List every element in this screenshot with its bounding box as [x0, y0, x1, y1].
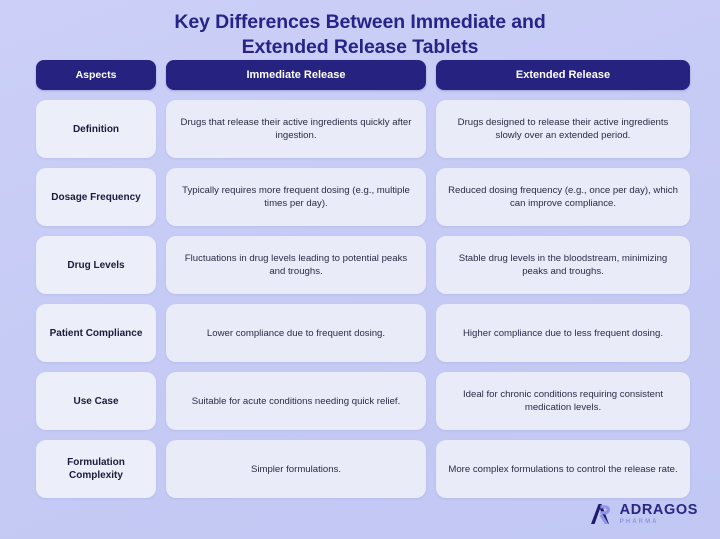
table-row: Patient Compliance Lower compliance due …: [36, 304, 690, 362]
page-title-line-1: Key Differences Between Immediate and: [70, 10, 650, 35]
brand-subtitle: PHARMA: [620, 519, 698, 525]
column-header-aspects: Aspects: [36, 60, 156, 90]
row-immediate-release-value: Typically requires more frequent dosing …: [166, 168, 426, 226]
page-title: Key Differences Between Immediate and Ex…: [0, 0, 720, 60]
row-extended-release-value: Stable drug levels in the bloodstream, m…: [436, 236, 690, 294]
table-row: Dosage Frequency Typically requires more…: [36, 168, 690, 226]
table-row: Drug Levels Fluctuations in drug levels …: [36, 236, 690, 294]
row-aspect-label: Formulation Complexity: [36, 440, 156, 498]
adragos-monogram-icon: [588, 501, 614, 527]
row-extended-release-value: Ideal for chronic conditions requiring c…: [436, 372, 690, 430]
row-aspect-label: Definition: [36, 100, 156, 158]
row-extended-release-value: Drugs designed to release their active i…: [436, 100, 690, 158]
row-immediate-release-value: Drugs that release their active ingredie…: [166, 100, 426, 158]
table-row: Definition Drugs that release their acti…: [36, 100, 690, 158]
table-row: Use Case Suitable for acute conditions n…: [36, 372, 690, 430]
brand-name: ADRAGOS: [620, 503, 698, 518]
row-immediate-release-value: Simpler formulations.: [166, 440, 426, 498]
infographic-canvas: Key Differences Between Immediate and Ex…: [0, 0, 720, 539]
brand-logo: ADRAGOS PHARMA: [588, 501, 698, 527]
row-extended-release-value: More complex formulations to control the…: [436, 440, 690, 498]
column-header-immediate-release: Immediate Release: [166, 60, 426, 90]
row-immediate-release-value: Suitable for acute conditions needing qu…: [166, 372, 426, 430]
row-extended-release-value: Reduced dosing frequency (e.g., once per…: [436, 168, 690, 226]
comparison-table: Aspects Immediate Release Extended Relea…: [36, 60, 690, 498]
row-aspect-label: Use Case: [36, 372, 156, 430]
table-header-row: Aspects Immediate Release Extended Relea…: [36, 60, 690, 90]
row-extended-release-value: Higher compliance due to less frequent d…: [436, 304, 690, 362]
row-immediate-release-value: Lower compliance due to frequent dosing.: [166, 304, 426, 362]
row-immediate-release-value: Fluctuations in drug levels leading to p…: [166, 236, 426, 294]
column-header-extended-release: Extended Release: [436, 60, 690, 90]
table-row: Formulation Complexity Simpler formulati…: [36, 440, 690, 498]
row-aspect-label: Dosage Frequency: [36, 168, 156, 226]
brand-logo-wordmark: ADRAGOS PHARMA: [620, 503, 698, 526]
row-aspect-label: Drug Levels: [36, 236, 156, 294]
page-title-line-2: Extended Release Tablets: [70, 35, 650, 60]
row-aspect-label: Patient Compliance: [36, 304, 156, 362]
